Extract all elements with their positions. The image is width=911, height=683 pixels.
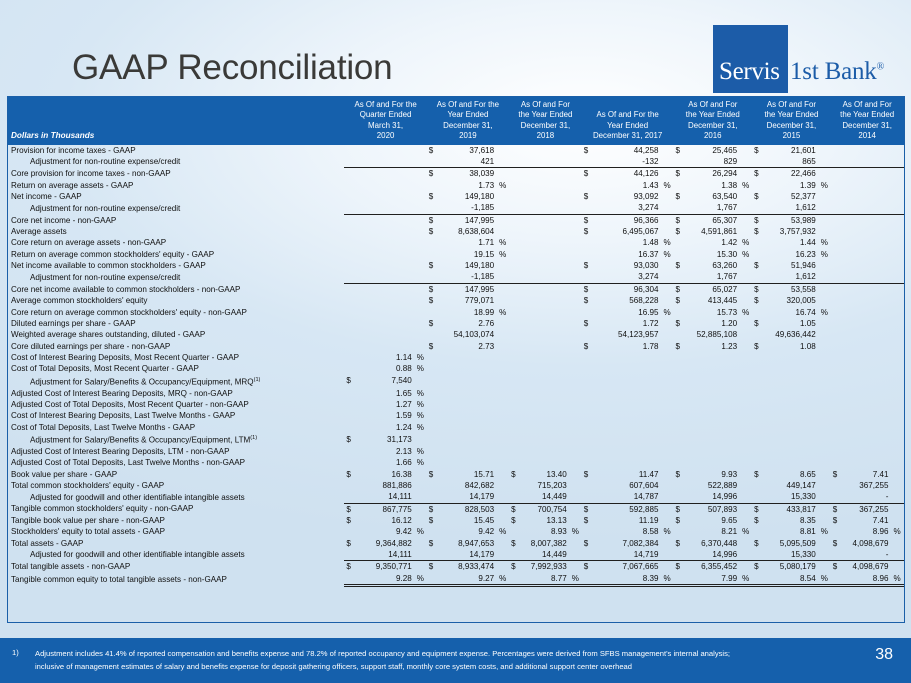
- cell-fy2017: 44,258: [591, 145, 661, 156]
- cell-fy2018: [518, 214, 569, 226]
- currency-symbol-fy2014: [831, 271, 840, 283]
- cell-fy2018: [518, 329, 569, 340]
- cell-fy2019: 9.27: [436, 573, 496, 586]
- table-row: Cost of Total Deposits, Last Twelve Mont…: [8, 422, 904, 433]
- table-body: Provision for income taxes - GAAP$37,618…: [8, 145, 904, 586]
- currency-symbol-fy2014: [831, 491, 840, 503]
- cell-fy2016: 1.20: [682, 318, 739, 329]
- cell-q1_2020: [353, 249, 413, 260]
- percent-symbol-fy2018: [569, 388, 582, 399]
- column-header-line: As Of and For the: [429, 100, 506, 110]
- percent-symbol-fy2014: [891, 271, 904, 283]
- percent-symbol-fy2017: [660, 260, 673, 271]
- currency-symbol-fy2016: $: [673, 260, 682, 271]
- table-row: Average assets$8,638,604$6,495,067$4,591…: [8, 226, 904, 237]
- percent-symbol-fy2014: [891, 388, 904, 399]
- cell-q1_2020: [353, 145, 413, 156]
- currency-symbol-q1_2020: [344, 145, 353, 156]
- row-label-text: Diluted earnings per share - GAAP: [11, 319, 136, 328]
- cell-fy2019: 15.45: [436, 515, 496, 526]
- cell-fy2019: 149,180: [436, 260, 496, 271]
- percent-symbol-fy2014: [891, 422, 904, 433]
- currency-symbol-fy2016: [673, 375, 682, 388]
- currency-symbol-fy2014: [831, 375, 840, 388]
- percent-symbol-fy2015: [818, 375, 831, 388]
- percent-symbol-fy2014: [891, 561, 904, 573]
- table-row: Return on average common stockholders' e…: [8, 249, 904, 260]
- cell-q1_2020: 867,775: [353, 503, 413, 515]
- percent-symbol-fy2019: [496, 433, 509, 446]
- currency-symbol-fy2016: $: [673, 318, 682, 329]
- cell-fy2019: [436, 399, 496, 410]
- percent-symbol-fy2015: [818, 388, 831, 399]
- currency-symbol-fy2019: $: [427, 341, 436, 352]
- percent-symbol-fy2017: [660, 433, 673, 446]
- percent-symbol-fy2014: [891, 329, 904, 340]
- percent-symbol-q1_2020: [414, 469, 427, 480]
- currency-symbol-fy2019: $: [427, 295, 436, 306]
- percent-symbol-fy2014: [891, 515, 904, 526]
- row-label-text: Core net income - non-GAAP: [11, 216, 116, 225]
- cell-fy2015: 320,005: [761, 295, 818, 306]
- cell-fy2017: 592,885: [591, 503, 661, 515]
- currency-symbol-fy2014: [831, 388, 840, 399]
- percent-symbol-fy2017: [660, 561, 673, 573]
- row-label-text: Adjustment for Salary/Benefits & Occupan…: [30, 436, 250, 445]
- cell-fy2016: [682, 457, 739, 468]
- gaap-reconciliation-table: Dollars in Thousands As Of and For theQu…: [8, 97, 904, 587]
- cell-fy2014: [840, 249, 891, 260]
- cell-q1_2020: 1.24: [353, 422, 413, 433]
- footnote-line-2: inclusive of management estimates of sal…: [35, 661, 835, 674]
- currency-symbol-fy2017: $: [582, 191, 591, 202]
- cell-fy2016: 6,355,452: [682, 561, 739, 573]
- cell-fy2014: [840, 283, 891, 295]
- cell-fy2015: 21,601: [761, 145, 818, 156]
- currency-symbol-fy2017: $: [582, 214, 591, 226]
- cell-fy2017: 1.72: [591, 318, 661, 329]
- currency-symbol-fy2017: [582, 329, 591, 340]
- currency-symbol-fy2019: [427, 363, 436, 374]
- currency-symbol-fy2019: [427, 457, 436, 468]
- currency-symbol-fy2017: $: [582, 283, 591, 295]
- row-label-text: Return on average common stockholders' e…: [11, 250, 214, 259]
- cell-fy2019: 779,071: [436, 295, 496, 306]
- table-row: Provision for income taxes - GAAP$37,618…: [8, 145, 904, 156]
- currency-symbol-fy2016: $: [673, 538, 682, 549]
- currency-symbol-q1_2020: [344, 168, 353, 180]
- currency-symbol-fy2016: [673, 271, 682, 283]
- percent-symbol-fy2017: %: [660, 237, 673, 248]
- cell-q1_2020: 1.14: [353, 352, 413, 363]
- row-label-text: Cost of Total Deposits, Last Twelve Mont…: [11, 423, 195, 432]
- cell-fy2017: [591, 446, 661, 457]
- currency-symbol-fy2015: [752, 271, 761, 283]
- cell-fy2015: [761, 410, 818, 421]
- cell-fy2019: 8,933,474: [436, 561, 496, 573]
- row-label-text: Core return on average common stockholde…: [11, 308, 247, 317]
- percent-symbol-fy2018: [569, 480, 582, 491]
- percent-symbol-fy2017: [660, 388, 673, 399]
- currency-symbol-fy2015: [752, 307, 761, 318]
- cell-q1_2020: [353, 214, 413, 226]
- currency-symbol-fy2015: [752, 433, 761, 446]
- currency-symbol-fy2017: $: [582, 226, 591, 237]
- row-label-text: Net income available to common stockhold…: [11, 261, 206, 270]
- currency-symbol-fy2014: [831, 433, 840, 446]
- currency-symbol-fy2017: [582, 573, 591, 586]
- currency-symbol-fy2015: $: [752, 226, 761, 237]
- cell-fy2018: [518, 433, 569, 446]
- currency-symbol-q1_2020: [344, 491, 353, 503]
- currency-symbol-fy2019: [427, 388, 436, 399]
- cell-fy2018: [518, 307, 569, 318]
- percent-symbol-fy2014: [891, 260, 904, 271]
- table-row: Average common stockholders' equity$779,…: [8, 295, 904, 306]
- currency-symbol-fy2014: [831, 295, 840, 306]
- currency-symbol-fy2019: $: [427, 318, 436, 329]
- currency-symbol-fy2014: [831, 352, 840, 363]
- currency-symbol-fy2014: [831, 237, 840, 248]
- cell-fy2018: [518, 457, 569, 468]
- cell-fy2017: 14,719: [591, 549, 661, 561]
- percent-symbol-q1_2020: [414, 271, 427, 283]
- currency-symbol-q1_2020: [344, 202, 353, 214]
- percent-symbol-fy2018: [569, 561, 582, 573]
- cell-q1_2020: 16.38: [353, 469, 413, 480]
- currency-symbol-fy2014: [831, 341, 840, 352]
- currency-symbol-fy2016: [673, 422, 682, 433]
- percent-symbol-fy2015: [818, 145, 831, 156]
- percent-symbol-fy2014: [891, 191, 904, 202]
- percent-symbol-fy2017: %: [660, 307, 673, 318]
- cell-fy2019: [436, 375, 496, 388]
- currency-symbol-q1_2020: [344, 260, 353, 271]
- percent-symbol-fy2018: %: [569, 573, 582, 586]
- percent-symbol-fy2014: %: [891, 573, 904, 586]
- percent-symbol-fy2016: [739, 283, 752, 295]
- currency-symbol-fy2018: [509, 457, 518, 468]
- cell-fy2014: 4,098,679: [840, 561, 891, 573]
- percent-symbol-fy2015: [818, 410, 831, 421]
- cell-fy2016: 14,996: [682, 549, 739, 561]
- cell-fy2017: [591, 352, 661, 363]
- table-row: Cost of Interest Bearing Deposits, Most …: [8, 352, 904, 363]
- currency-symbol-fy2015: [752, 352, 761, 363]
- percent-symbol-fy2018: [569, 145, 582, 156]
- row-label-text: Book value per share - GAAP: [11, 470, 117, 479]
- cell-fy2015: [761, 399, 818, 410]
- row-label: Core net income - non-GAAP: [8, 214, 344, 226]
- currency-symbol-fy2017: $: [582, 515, 591, 526]
- cell-fy2018: [518, 168, 569, 180]
- currency-symbol-fy2018: [509, 491, 518, 503]
- percent-symbol-fy2019: [496, 271, 509, 283]
- currency-symbol-fy2014: $: [831, 503, 840, 515]
- percent-symbol-q1_2020: %: [414, 446, 427, 457]
- currency-symbol-fy2017: [582, 549, 591, 561]
- table-row: Adjusted Cost of Interest Bearing Deposi…: [8, 446, 904, 457]
- percent-symbol-fy2018: [569, 318, 582, 329]
- percent-symbol-fy2019: [496, 295, 509, 306]
- percent-symbol-fy2014: [891, 363, 904, 374]
- cell-fy2018: 715,203: [518, 480, 569, 491]
- currency-symbol-fy2016: $: [673, 503, 682, 515]
- cell-fy2015: 433,817: [761, 503, 818, 515]
- percent-symbol-q1_2020: [414, 341, 427, 352]
- percent-symbol-fy2018: [569, 271, 582, 283]
- row-label: Provision for income taxes - GAAP: [8, 145, 344, 156]
- column-header-line: December 31,: [512, 121, 580, 131]
- cell-fy2014: [840, 352, 891, 363]
- row-label-text: Return on average assets - GAAP: [11, 181, 133, 190]
- cell-fy2014: [840, 446, 891, 457]
- currency-symbol-fy2019: $: [427, 503, 436, 515]
- percent-symbol-fy2015: [818, 538, 831, 549]
- cell-fy2015: 865: [761, 156, 818, 168]
- percent-symbol-fy2014: [891, 433, 904, 446]
- table-row: Core net income available to common stoc…: [8, 283, 904, 295]
- percent-symbol-fy2017: [660, 363, 673, 374]
- cell-fy2019: 54,103,074: [436, 329, 496, 340]
- currency-symbol-q1_2020: [344, 237, 353, 248]
- currency-symbol-fy2018: [509, 480, 518, 491]
- row-label-text: Adjusted for goodwill and other identifi…: [30, 493, 245, 502]
- percent-symbol-q1_2020: %: [414, 457, 427, 468]
- percent-symbol-fy2017: [660, 422, 673, 433]
- currency-symbol-fy2014: [831, 191, 840, 202]
- table-row: Weighted average shares outstanding, dil…: [8, 329, 904, 340]
- table-row: Tangible book value per share - non-GAAP…: [8, 515, 904, 526]
- cell-fy2014: [840, 260, 891, 271]
- currency-symbol-fy2014: [831, 410, 840, 421]
- currency-symbol-q1_2020: $: [344, 503, 353, 515]
- percent-symbol-fy2016: [739, 329, 752, 340]
- cell-fy2018: [518, 375, 569, 388]
- row-label: Diluted earnings per share - GAAP: [8, 318, 344, 329]
- percent-symbol-fy2018: [569, 515, 582, 526]
- column-header-line: As Of and For: [676, 100, 750, 110]
- cell-fy2015: 1,612: [761, 271, 818, 283]
- currency-symbol-fy2015: $: [752, 214, 761, 226]
- cell-fy2015: 8.81: [761, 526, 818, 537]
- percent-symbol-fy2016: %: [739, 249, 752, 260]
- percent-symbol-fy2018: [569, 422, 582, 433]
- cell-q1_2020: 14,111: [353, 491, 413, 503]
- cell-fy2015: 1.05: [761, 318, 818, 329]
- percent-symbol-fy2019: %: [496, 249, 509, 260]
- cell-fy2017: [591, 375, 661, 388]
- currency-symbol-fy2015: [752, 446, 761, 457]
- percent-symbol-fy2014: [891, 480, 904, 491]
- cell-fy2019: 8,638,604: [436, 226, 496, 237]
- percent-symbol-fy2015: [818, 318, 831, 329]
- currency-symbol-fy2016: [673, 180, 682, 191]
- percent-symbol-fy2019: [496, 363, 509, 374]
- percent-symbol-fy2017: %: [660, 526, 673, 537]
- row-label-text: Adjusted Cost of Interest Bearing Deposi…: [11, 389, 233, 398]
- cell-fy2018: [518, 271, 569, 283]
- cell-fy2014: 367,255: [840, 503, 891, 515]
- percent-symbol-fy2016: [739, 295, 752, 306]
- cell-fy2014: 4,098,679: [840, 538, 891, 549]
- currency-symbol-q1_2020: [344, 226, 353, 237]
- percent-symbol-fy2015: [818, 561, 831, 573]
- percent-symbol-fy2016: [739, 457, 752, 468]
- cell-fy2017: [591, 457, 661, 468]
- currency-symbol-fy2018: [509, 375, 518, 388]
- percent-symbol-fy2014: [891, 410, 904, 421]
- currency-symbol-fy2018: [509, 202, 518, 214]
- cell-fy2014: [840, 410, 891, 421]
- cell-fy2015: 3,757,932: [761, 226, 818, 237]
- percent-symbol-q1_2020: [414, 214, 427, 226]
- column-header-line: As Of and For: [755, 100, 829, 110]
- row-label-text: Adjustment for non-routine expense/credi…: [30, 273, 180, 282]
- currency-symbol-fy2019: [427, 180, 436, 191]
- percent-symbol-fy2019: %: [496, 307, 509, 318]
- percent-symbol-fy2014: [891, 549, 904, 561]
- percent-symbol-fy2019: %: [496, 526, 509, 537]
- percent-symbol-fy2018: [569, 457, 582, 468]
- currency-symbol-fy2019: $: [427, 214, 436, 226]
- currency-symbol-fy2014: [831, 446, 840, 457]
- percent-symbol-fy2017: %: [660, 249, 673, 260]
- cell-q1_2020: 9,350,771: [353, 561, 413, 573]
- currency-symbol-fy2018: [509, 410, 518, 421]
- row-label: Cost of Total Deposits, Most Recent Quar…: [8, 363, 344, 374]
- cell-fy2014: [840, 271, 891, 283]
- cell-fy2015: 1.39: [761, 180, 818, 191]
- percent-symbol-fy2018: [569, 503, 582, 515]
- percent-symbol-fy2018: [569, 180, 582, 191]
- cell-fy2015: [761, 363, 818, 374]
- percent-symbol-fy2015: [818, 156, 831, 168]
- percent-symbol-fy2015: [818, 191, 831, 202]
- cell-fy2019: [436, 388, 496, 399]
- cell-fy2015: 1,612: [761, 202, 818, 214]
- currency-symbol-q1_2020: [344, 526, 353, 537]
- cell-fy2014: [840, 202, 891, 214]
- cell-fy2017: 607,604: [591, 480, 661, 491]
- cell-q1_2020: 881,886: [353, 480, 413, 491]
- column-header-line: December 31,: [755, 121, 829, 131]
- percent-symbol-fy2016: [739, 399, 752, 410]
- cell-q1_2020: [353, 307, 413, 318]
- currency-symbol-q1_2020: [344, 410, 353, 421]
- cell-fy2019: 2.73: [436, 341, 496, 352]
- table-row: Adjustment for non-routine expense/credi…: [8, 202, 904, 214]
- currency-symbol-fy2019: $: [427, 191, 436, 202]
- cell-fy2014: [840, 457, 891, 468]
- row-label: Core return on average common stockholde…: [8, 307, 344, 318]
- currency-symbol-q1_2020: [344, 271, 353, 283]
- row-label-text: Core provision for income taxes - non-GA…: [11, 169, 171, 178]
- cell-fy2016: 1.42: [682, 237, 739, 248]
- row-label-text: Average assets: [11, 227, 67, 236]
- cell-fy2018: [518, 295, 569, 306]
- currency-symbol-q1_2020: [344, 249, 353, 260]
- cell-fy2018: [518, 202, 569, 214]
- cell-fy2016: 1,767: [682, 271, 739, 283]
- footnote-line-1: Adjustment includes 41.4% of reported co…: [35, 648, 835, 661]
- row-label: Core net income available to common stoc…: [8, 283, 344, 295]
- row-label: Return on average common stockholders' e…: [8, 249, 344, 260]
- percent-symbol-fy2016: [739, 226, 752, 237]
- cell-q1_2020: 31,173: [353, 433, 413, 446]
- cell-fy2017: 1.43: [591, 180, 661, 191]
- cell-fy2019: 1.73: [436, 180, 496, 191]
- percent-symbol-fy2017: [660, 191, 673, 202]
- column-header-line: As Of and For: [512, 100, 580, 110]
- cell-q1_2020: [353, 329, 413, 340]
- percent-symbol-fy2016: [739, 145, 752, 156]
- cell-fy2016: 26,294: [682, 168, 739, 180]
- percent-symbol-fy2018: [569, 214, 582, 226]
- cell-fy2015: 8.35: [761, 515, 818, 526]
- percent-symbol-fy2015: %: [818, 526, 831, 537]
- currency-symbol-fy2016: [673, 480, 682, 491]
- percent-symbol-q1_2020: [414, 295, 427, 306]
- currency-symbol-fy2016: [673, 388, 682, 399]
- percent-symbol-fy2016: %: [739, 307, 752, 318]
- currency-symbol-fy2015: $: [752, 503, 761, 515]
- column-header-line: As Of and For the: [347, 100, 424, 110]
- column-header-fy2014: As Of and Forthe Year EndedDecember 31,2…: [831, 97, 904, 145]
- percent-symbol-fy2019: [496, 446, 509, 457]
- percent-symbol-fy2014: [891, 318, 904, 329]
- cell-fy2018: 13.13: [518, 515, 569, 526]
- row-label-text: Core diluted earnings per share - non-GA…: [11, 342, 170, 351]
- cell-fy2018: 8,007,382: [518, 538, 569, 549]
- cell-q1_2020: 9.42: [353, 526, 413, 537]
- percent-symbol-fy2019: [496, 226, 509, 237]
- currency-symbol-fy2017: [582, 237, 591, 248]
- row-label-text: Weighted average shares outstanding, dil…: [11, 330, 205, 339]
- currency-symbol-fy2015: [752, 480, 761, 491]
- row-label: Adjusted Cost of Total Deposits, Last Tw…: [8, 457, 344, 468]
- cell-fy2018: 7,992,933: [518, 561, 569, 573]
- currency-symbol-fy2017: [582, 526, 591, 537]
- cell-fy2016: 507,893: [682, 503, 739, 515]
- row-label: Adjusted for goodwill and other identifi…: [8, 491, 344, 503]
- cell-fy2015: 49,636,442: [761, 329, 818, 340]
- cell-fy2015: 15,330: [761, 491, 818, 503]
- column-header-line: December 31,: [833, 121, 901, 131]
- percent-symbol-q1_2020: [414, 156, 427, 168]
- cell-q1_2020: [353, 226, 413, 237]
- currency-symbol-q1_2020: [344, 295, 353, 306]
- currency-symbol-fy2015: $: [752, 191, 761, 202]
- logo-wordmark-text: 1st Bank: [790, 58, 877, 85]
- cell-fy2018: [518, 446, 569, 457]
- footnote-text: Adjustment includes 41.4% of reported co…: [35, 648, 835, 674]
- percent-symbol-fy2014: [891, 180, 904, 191]
- cell-fy2016: [682, 388, 739, 399]
- row-label-text: Tangible common equity to total tangible…: [11, 575, 227, 584]
- percent-symbol-q1_2020: %: [414, 363, 427, 374]
- cell-fy2018: 700,754: [518, 503, 569, 515]
- percent-symbol-fy2014: [891, 446, 904, 457]
- currency-symbol-q1_2020: $: [344, 469, 353, 480]
- currency-symbol-fy2014: [831, 363, 840, 374]
- currency-symbol-q1_2020: $: [344, 375, 353, 388]
- cell-fy2016: 4,591,861: [682, 226, 739, 237]
- servisfirst-bank-logo: Servis 1st Bank®: [713, 25, 903, 93]
- percent-symbol-fy2016: [739, 214, 752, 226]
- cell-fy2018: [518, 352, 569, 363]
- currency-symbol-fy2019: $: [427, 145, 436, 156]
